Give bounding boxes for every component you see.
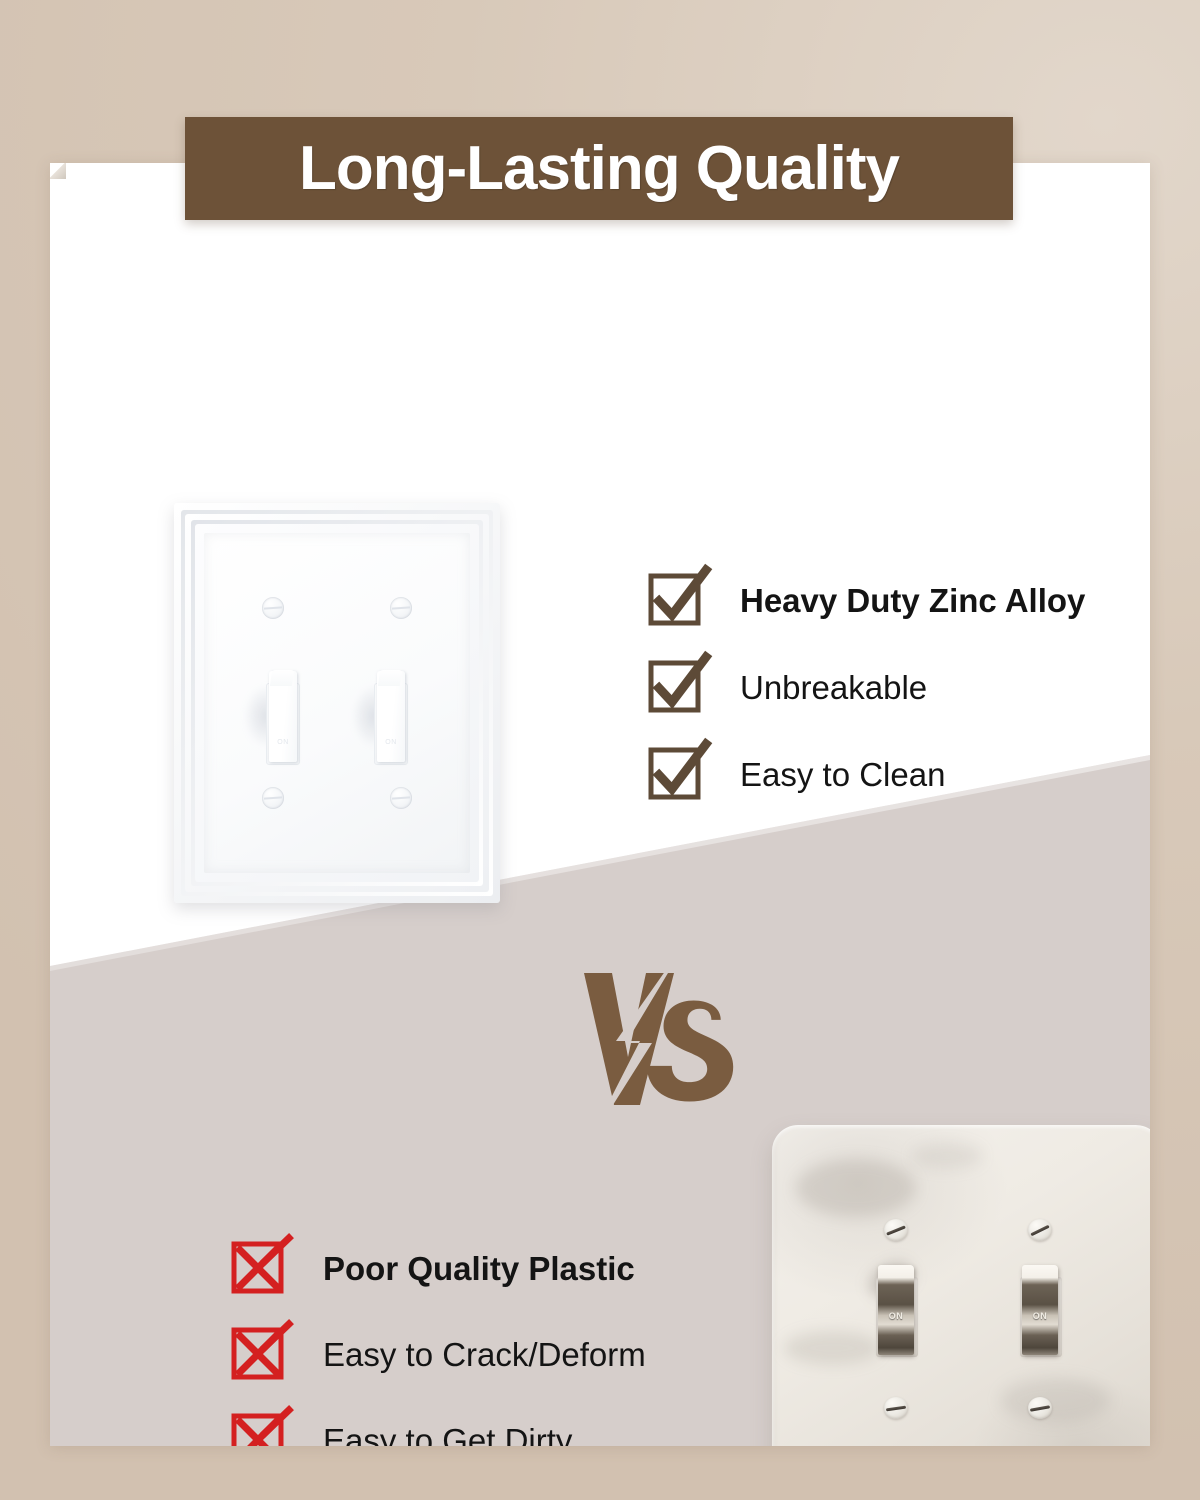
toggle-on-label: ON [1022, 1311, 1058, 1321]
grime-smudge [1000, 1377, 1110, 1423]
toggle-on-label: ON [377, 739, 405, 746]
check-box-icon [650, 662, 702, 714]
plate-face: ON ON [204, 533, 470, 873]
comparison-card: ON ON Heavy Duty Zinc Al [50, 163, 1150, 1446]
screw-bottom-left [262, 787, 284, 809]
toggle-lever: ON [1022, 1265, 1058, 1355]
toggle-on-label: ON [269, 739, 297, 746]
toggle-switch-left[interactable]: ON [266, 683, 300, 765]
list-item-label: Poor Quality Plastic [323, 1250, 635, 1288]
list-item: Easy to Get Dirty [233, 1415, 646, 1446]
title-banner: Long-Lasting Quality [185, 117, 1013, 220]
list-item: Easy to Clean [650, 749, 1085, 801]
check-box-icon [650, 575, 702, 627]
toggle-switch-right[interactable]: ON [1020, 1277, 1062, 1357]
toggle-lever: ON [878, 1265, 914, 1355]
toggle-switch-left[interactable]: ON [876, 1277, 918, 1357]
toggle-switch-right[interactable]: ON [374, 683, 408, 765]
screw-bottom-left [884, 1397, 908, 1419]
grime-smudge [796, 1159, 916, 1217]
list-item-label: Easy to Clean [740, 756, 945, 794]
screw-top-left [262, 597, 284, 619]
list-item: Heavy Duty Zinc Alloy [650, 575, 1085, 627]
toggle-on-label: ON [878, 1311, 914, 1321]
dirty-plastic-switch-plate: ON ON [772, 1125, 1150, 1446]
list-item-label: Heavy Duty Zinc Alloy [740, 582, 1085, 620]
screw-bottom-right [1028, 1397, 1052, 1419]
list-item-label: Easy to Get Dirty [323, 1422, 572, 1446]
toggle-tab [270, 670, 294, 686]
list-item: Unbreakable [650, 662, 1085, 714]
screw-top-right [390, 597, 412, 619]
grime-smudge [912, 1143, 982, 1169]
screw-top-left [884, 1219, 908, 1241]
white-metal-switch-plate: ON ON [174, 503, 500, 903]
list-item: Poor Quality Plastic [233, 1243, 646, 1295]
grime-smudge [784, 1331, 880, 1365]
card-folded-corner [50, 163, 66, 179]
list-item-label: Easy to Crack/Deform [323, 1336, 646, 1374]
check-box-icon [650, 749, 702, 801]
benefits-list: Heavy Duty Zinc Alloy Unbreakable Easy t… [650, 575, 1085, 801]
list-item: Easy to Crack/Deform [233, 1329, 646, 1381]
cross-box-icon [233, 1243, 285, 1295]
cross-box-icon [233, 1415, 285, 1446]
screw-bottom-right [390, 787, 412, 809]
toggle-tab [378, 670, 402, 686]
list-item-label: Unbreakable [740, 669, 927, 707]
drawbacks-list: Poor Quality Plastic Easy to Crack/Defor… [233, 1243, 646, 1446]
page-title: Long-Lasting Quality [299, 133, 899, 204]
cross-box-icon [233, 1329, 285, 1381]
screw-top-right [1028, 1219, 1052, 1241]
versus-badge [566, 939, 746, 1139]
